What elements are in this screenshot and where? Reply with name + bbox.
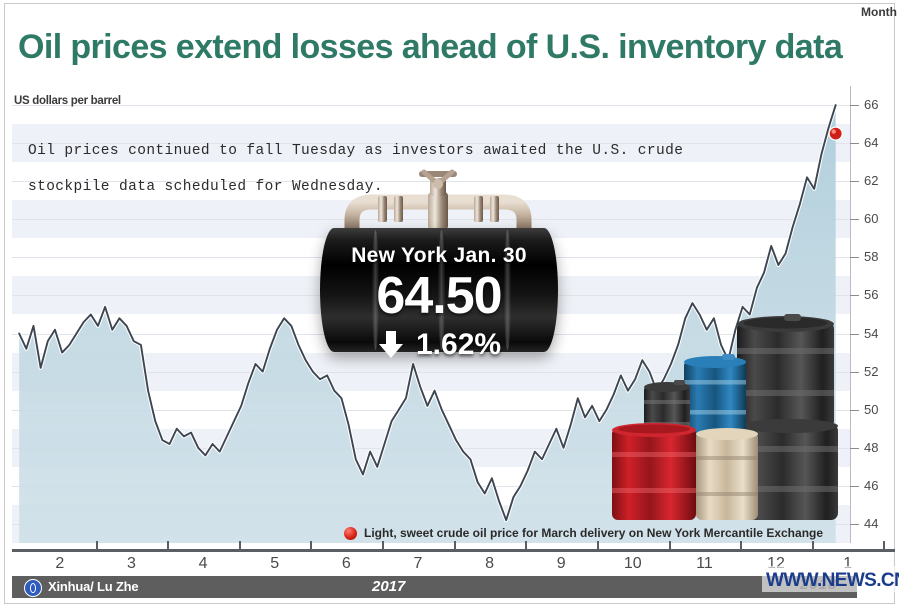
xinhua-logo-icon [24, 579, 42, 597]
x-tick-mark [525, 541, 527, 550]
x-tick-mark [883, 541, 885, 550]
infographic-root: Oil prices extend losses ahead of U.S. i… [0, 0, 899, 608]
y-tick-label: 64 [850, 136, 895, 150]
footer-bar: Xinhua/ Lu Zhe 2017 [12, 576, 857, 598]
barrel-blue [684, 354, 746, 438]
x-tick-label: 10 [613, 554, 653, 574]
barrel-beige [696, 428, 758, 520]
x-tick-mark [96, 541, 98, 550]
barrels-svg [612, 296, 860, 520]
y-tick-label: 60 [850, 212, 895, 226]
legend-label: Light, sweet crude oil price for March d… [364, 523, 823, 543]
callout-city-date: New York Jan. 30 [320, 244, 558, 268]
x-tick-mark [454, 541, 456, 550]
watermark-label: WWW.NEWS.CN [766, 570, 899, 592]
callout-change-pct: 1.62% [416, 328, 501, 362]
arrow-down-icon [378, 331, 404, 359]
x-tick-mark [812, 541, 814, 550]
x-tick-mark [310, 541, 312, 550]
x-tick-label: 2 [40, 554, 80, 574]
callout-price: 64.50 [320, 268, 558, 324]
x-tick-label: 8 [470, 554, 510, 574]
y-tick-label: 62 [850, 174, 895, 188]
x-tick-label: 11 [684, 554, 724, 574]
page-title: Oil prices extend losses ahead of U.S. i… [18, 26, 880, 68]
x-tick-mark [382, 541, 384, 550]
x-tick-mark [167, 541, 169, 550]
barrel-red [612, 423, 696, 520]
x-tick-mark [740, 541, 742, 550]
x-tick-label: 7 [398, 554, 438, 574]
x-tick-label: 5 [255, 554, 295, 574]
barrel-black-tall [737, 314, 834, 428]
x-tick-label: 3 [111, 554, 151, 574]
credit-label: Xinhua/ Lu Zhe [48, 579, 138, 595]
x-tick-label: 4 [183, 554, 223, 574]
x-tick-mark [669, 541, 671, 550]
x-tick-mark [597, 541, 599, 550]
footer-year-left: 2017 [372, 578, 405, 595]
x-tick-label: 9 [541, 554, 581, 574]
price-callout: New York Jan. 30 64.50 1.62% [320, 168, 558, 383]
x-tick-label: 6 [326, 554, 366, 574]
y-tick-label: 58 [850, 250, 895, 264]
description-line-1: Oil prices continued to fall Tuesday as … [28, 143, 683, 159]
last-price-marker [829, 127, 842, 140]
x-axis-unit-label: Month [861, 5, 897, 19]
marker-highlight [831, 129, 835, 133]
legend-dot-icon [344, 527, 357, 540]
y-tick-label: 66 [850, 98, 895, 112]
barrel-stack-illustration [612, 296, 860, 520]
y-axis-unit-label: US dollars per barrel [14, 95, 121, 107]
x-tick-mark [239, 541, 241, 550]
